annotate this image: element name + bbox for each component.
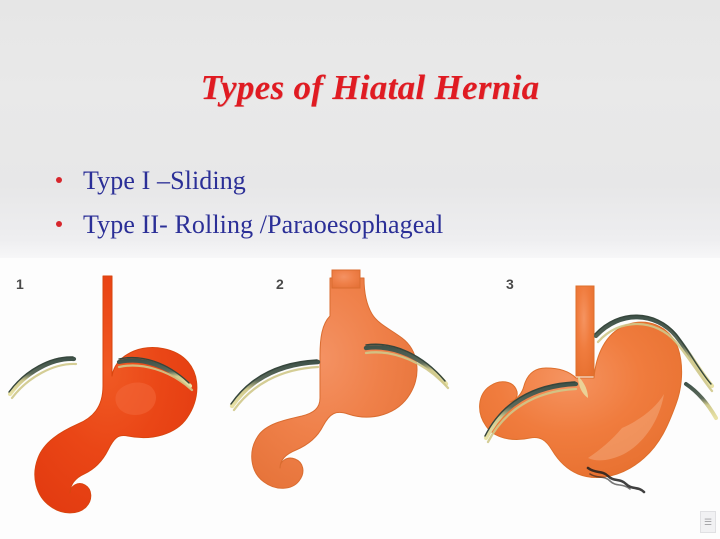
esophagus-3 [576,286,594,376]
figure-number-1: 1 [16,276,24,292]
bullet-dot-icon [56,221,62,227]
list-item: Type II- Rolling /Paraoesophageal [56,210,676,244]
bullet-list: Type I –Sliding Type II- Rolling /Paraoe… [56,166,676,254]
hiatal-hernia-illustration [0,258,720,539]
figure-number-2: 2 [276,276,284,292]
page-title: Types of Hiatal Hernia [0,68,700,108]
figure-number-3: 3 [506,276,514,292]
bullet-label-type-ii: Type II- Rolling /Paraoesophageal [83,210,443,240]
slide-canvas: Types of Hiatal Hernia Type I –Sliding T… [0,0,720,539]
panel-3-paraoesophageal-hernia [480,286,716,492]
slide-header-pane: Types of Hiatal Hernia Type I –Sliding T… [0,0,720,258]
list-item: Type I –Sliding [56,166,676,200]
panel-2-sliding-hernia [231,270,448,488]
corner-watermark-icon: ☰ [700,511,716,533]
esophagus-2 [332,270,360,288]
stomach-shape-2 [252,278,417,488]
panel-1-normal-anatomy [9,276,197,513]
bullet-label-type-i: Type I –Sliding [83,166,246,196]
anatomy-figure-pane: 1 2 3 ☰ [0,258,720,539]
bullet-dot-icon [56,177,62,183]
